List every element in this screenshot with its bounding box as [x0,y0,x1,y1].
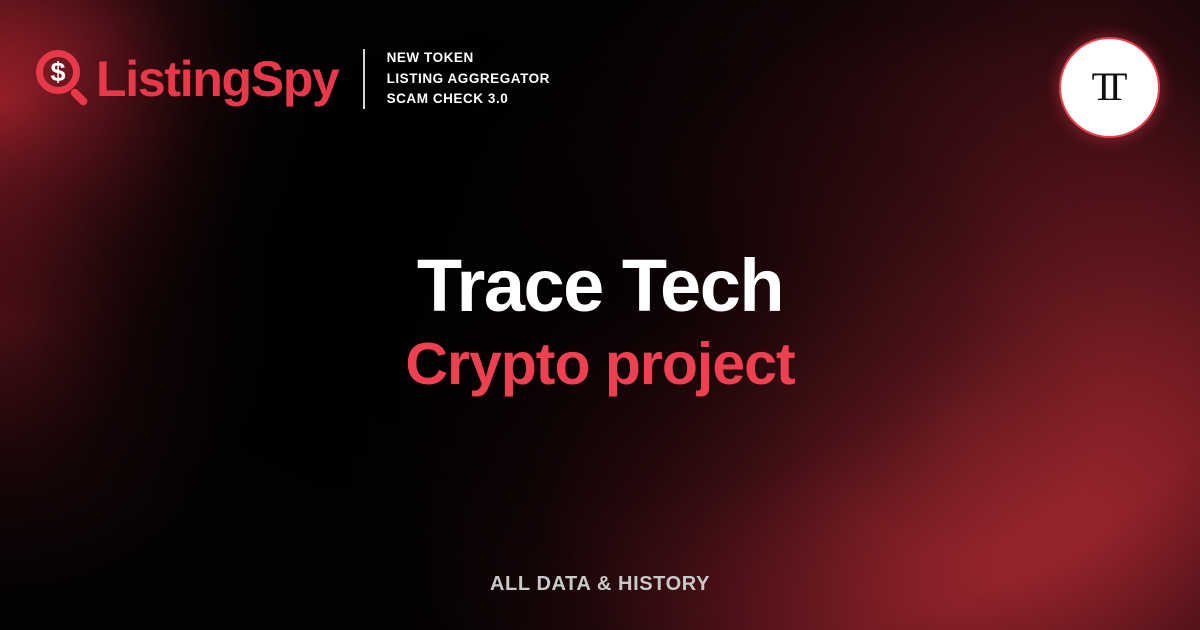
brand-tagline: NEW TOKEN LISTING AGGREGATOR SCAM CHECK … [387,48,550,110]
project-headline-block: Trace Tech Crypto project [0,248,1200,396]
footer-caption: ALL DATA & HISTORY [0,572,1200,596]
header-divider [363,49,365,109]
brand-wordmark: ListingSpy [96,54,339,104]
tagline-line-3: SCAM CHECK 3.0 [387,89,550,110]
tagline-line-1: NEW TOKEN [387,48,550,69]
trace-tech-token-logo[interactable]: TT [1059,37,1160,138]
project-subtitle: Crypto project [0,334,1200,396]
dollar-sign-icon: $ [43,52,73,92]
tagline-line-2: LISTING AGGREGATOR [387,69,550,90]
footer: ALL DATA & HISTORY [0,572,1200,596]
listingspy-logo[interactable]: $ ListingSpy [34,48,339,110]
project-title: Trace Tech [0,248,1200,325]
token-monogram: TT [1105,67,1115,107]
background-glow-top-right [860,0,1200,280]
brand-header: $ ListingSpy NEW TOKEN LISTING AGGREGATO… [34,48,550,110]
magnifying-glass-dollar-icon: $ [34,48,92,110]
listing-spy-project-card: $ ListingSpy NEW TOKEN LISTING AGGREGATO… [0,0,1200,630]
